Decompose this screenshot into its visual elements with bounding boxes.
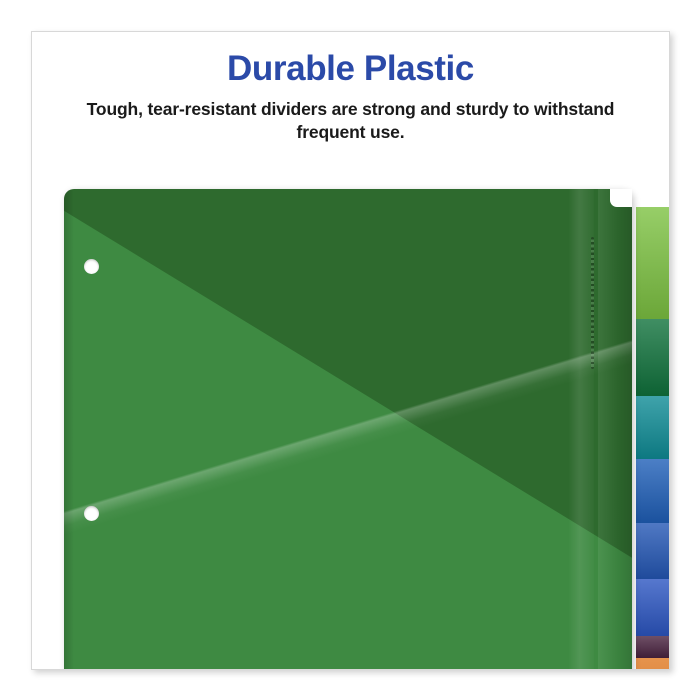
tab-blue (636, 459, 670, 523)
tab-teal (636, 396, 670, 459)
tab-notch-cutout (610, 189, 632, 207)
tab-royal-blue (636, 579, 670, 636)
perforation-strip (591, 237, 594, 369)
tab-dark-green (636, 319, 670, 396)
headline-block: Durable Plastic Tough, tear-resistant di… (32, 50, 669, 144)
product-card-frame: Durable Plastic Tough, tear-resistant di… (31, 31, 670, 670)
page-subtitle: Tough, tear-resistant dividers are stron… (32, 98, 669, 144)
product-image-canvas: Durable Plastic Tough, tear-resistant di… (0, 0, 700, 700)
tab-light-green (636, 207, 670, 319)
page-title: Durable Plastic (32, 50, 669, 89)
tab-orange (636, 658, 670, 670)
product-photo (64, 189, 670, 670)
divider-sheet (64, 189, 632, 670)
binder-hole-top (84, 259, 99, 274)
binder-hole-bottom (84, 506, 99, 521)
tab-purple (636, 636, 670, 658)
tab-blue-deep (636, 523, 670, 579)
index-tab-stack (636, 189, 670, 670)
pocket-flap (64, 189, 632, 670)
